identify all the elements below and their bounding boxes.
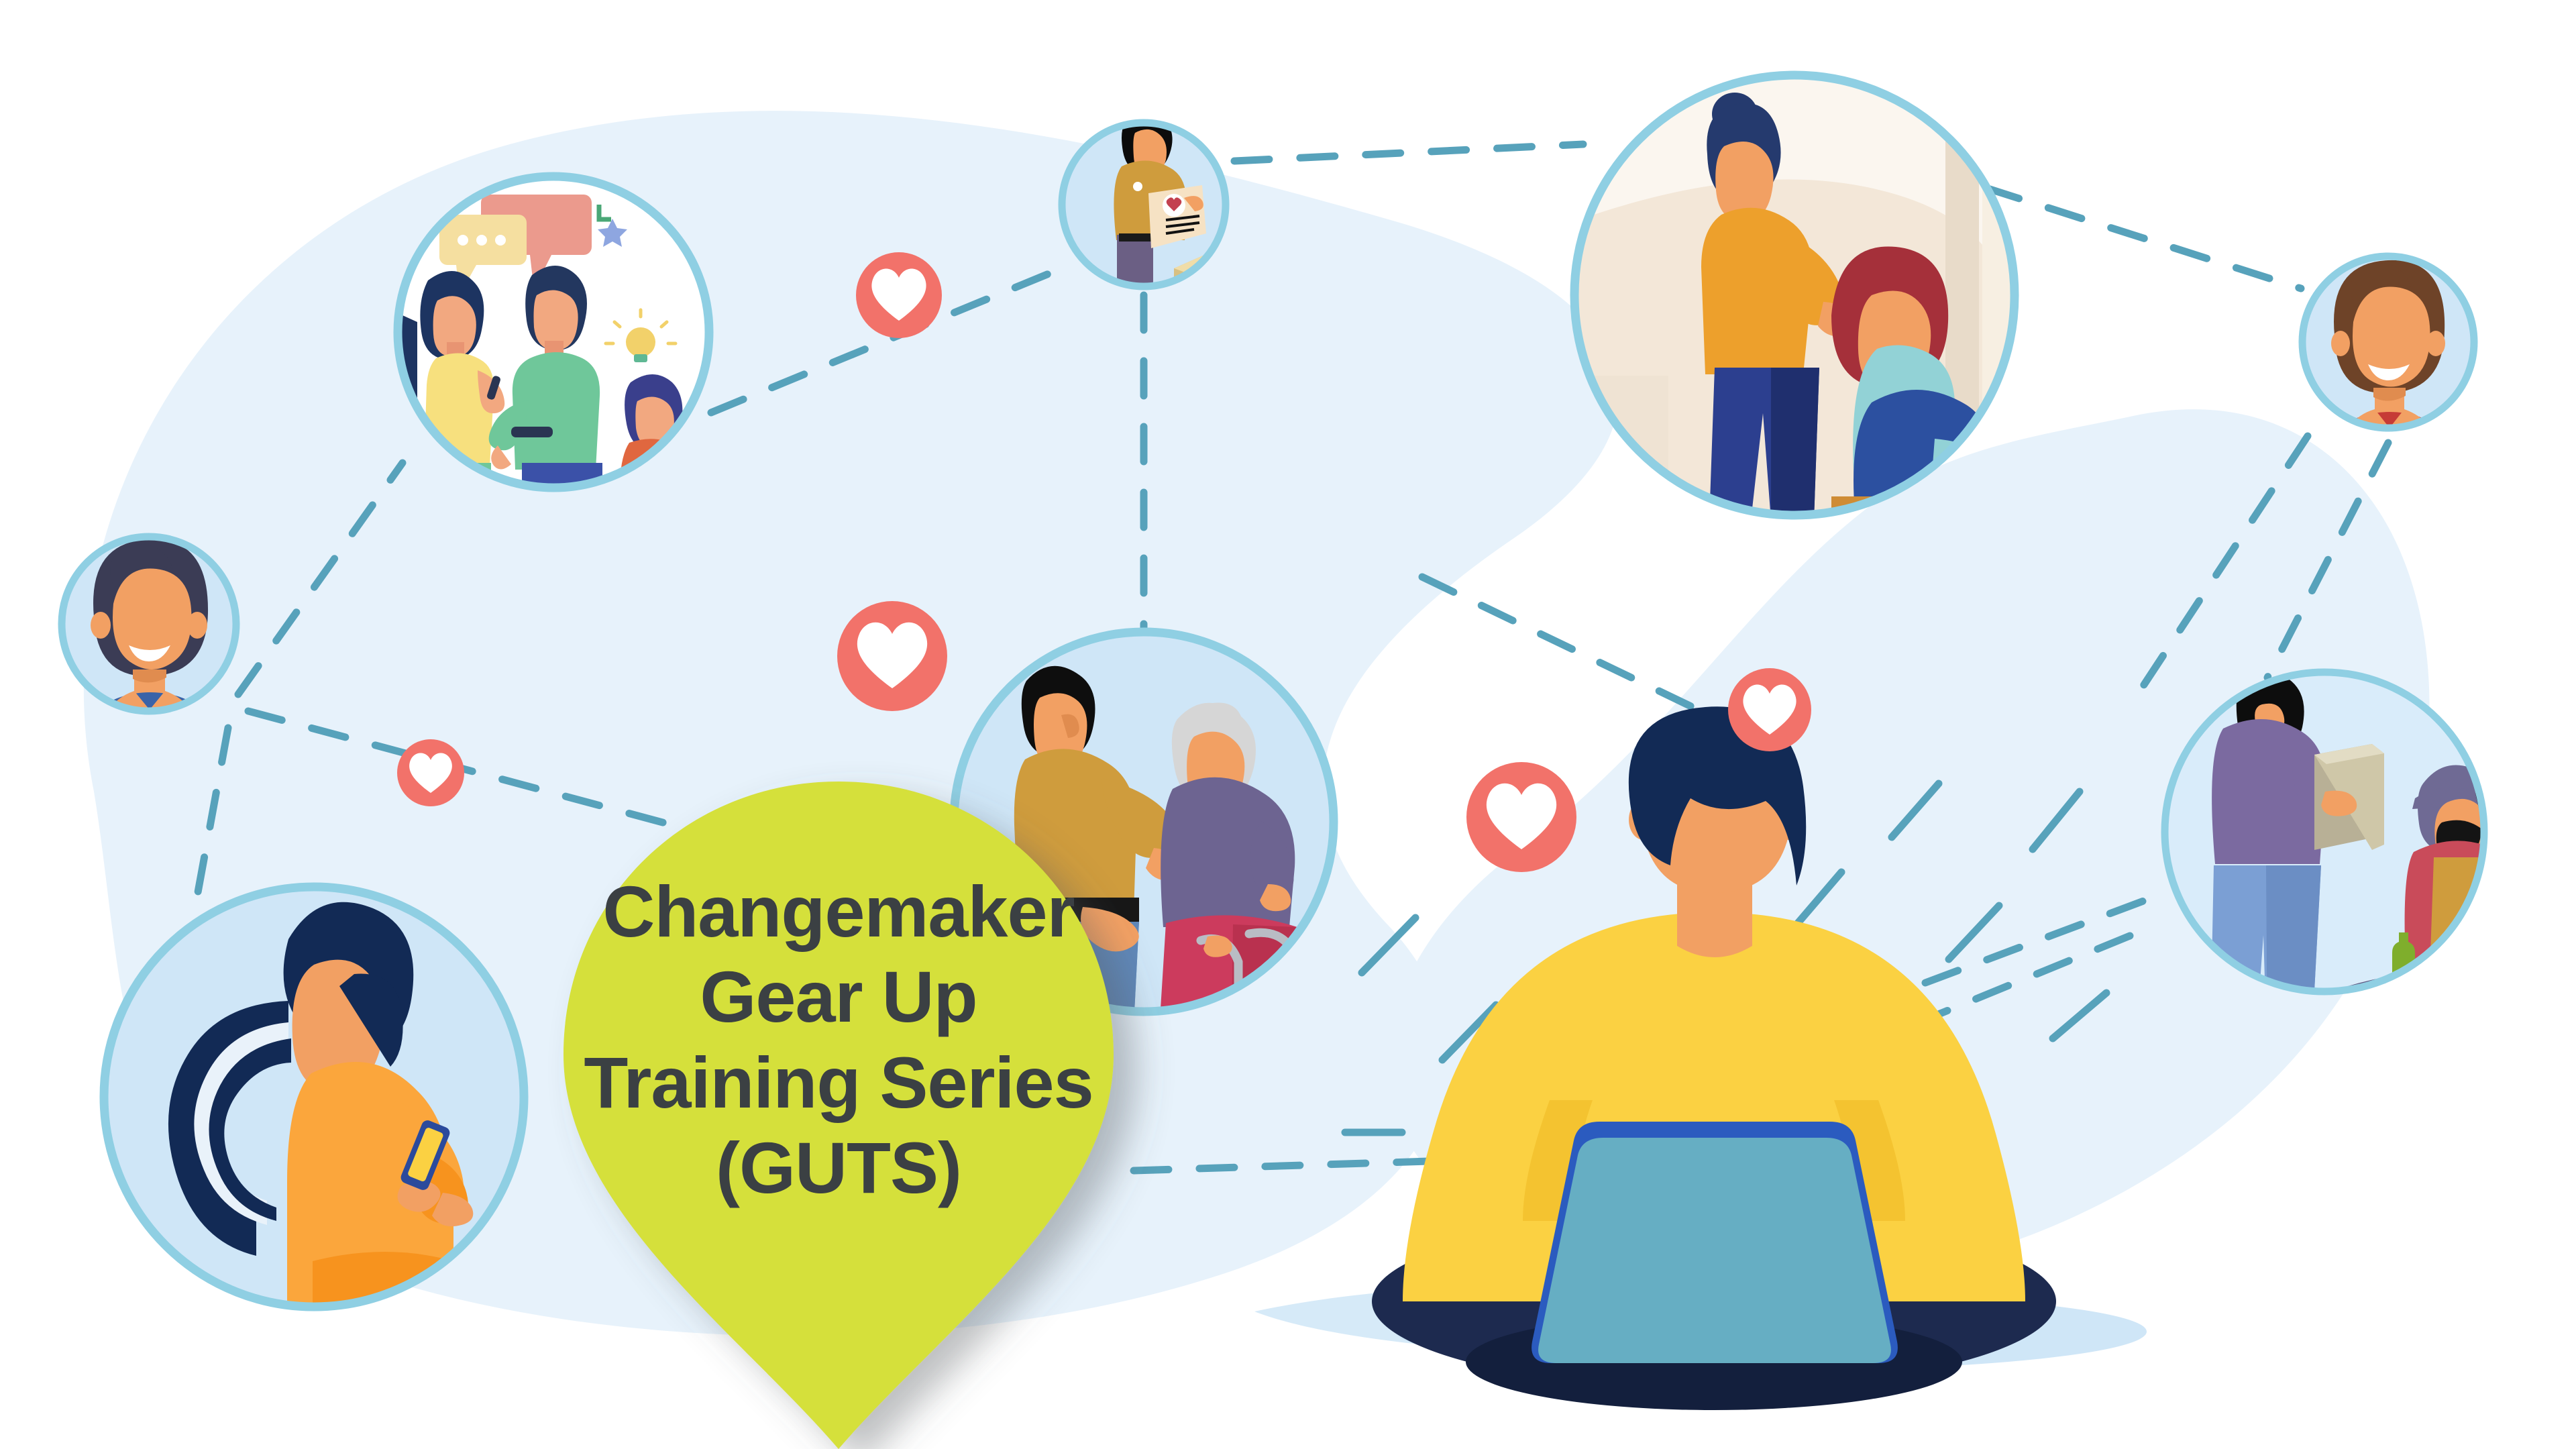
heart-badge-4 (1728, 668, 1811, 751)
illustration-canvas: Changemaker Gear Up Training Series (GUT… (0, 0, 2576, 1449)
heart-badge-2 (837, 601, 947, 711)
heart-badges (0, 0, 2576, 1449)
heart-badge-5 (1466, 762, 1576, 872)
heart-badge-1 (856, 252, 942, 338)
heart-badge-3 (397, 739, 464, 806)
